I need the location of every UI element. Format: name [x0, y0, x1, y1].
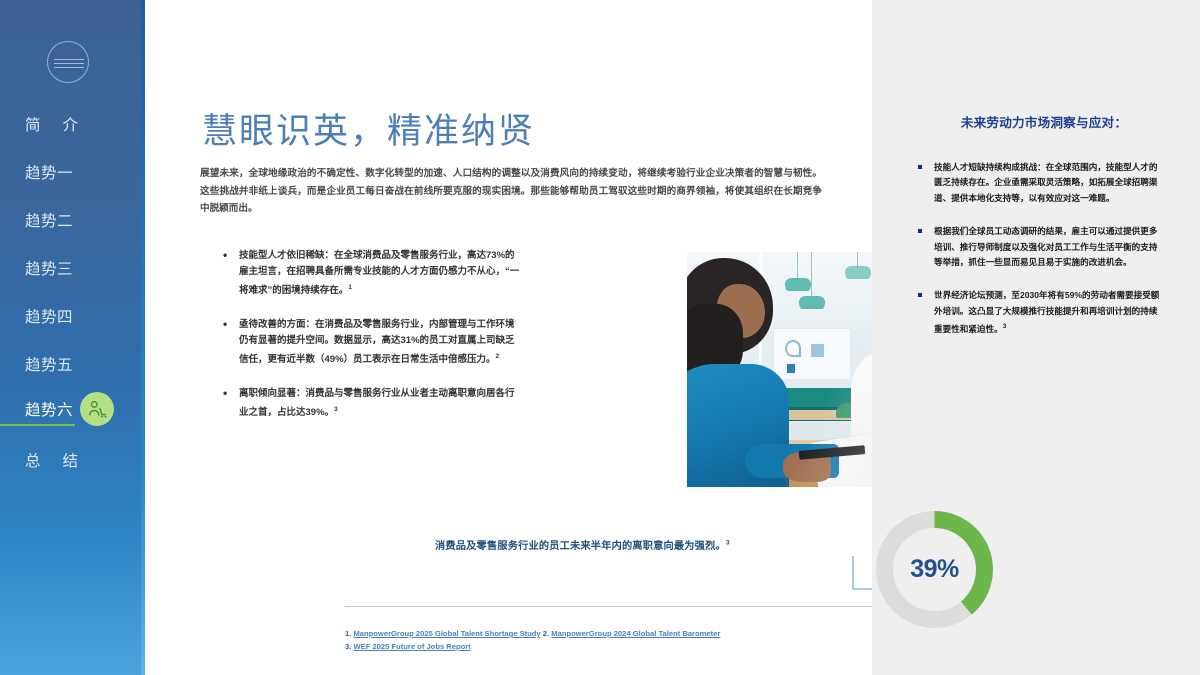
- donut-chart-center: 39%: [893, 528, 976, 611]
- main-bullet-list: 技能型人才依旧稀缺：在全球消费品及零售服务行业，高达73%的雇主坦言，在招聘具备…: [223, 248, 523, 438]
- bullet-body: 根据我们全球员工动态调研的结果，雇主可以通过提供更多培训、推行导师制度以及强化对…: [934, 226, 1157, 267]
- sidebar-item-label: 趋势六: [0, 398, 75, 426]
- insights-panel-title: 未来劳动力市场洞察与应对：: [910, 112, 1178, 131]
- list-item: 世界经济论坛预测，至2030年将有59%的劳动者需要接受额外培训。这凸显了大规模…: [916, 288, 1166, 337]
- bullet-heading: 技能型人才依旧稀缺：: [239, 250, 334, 261]
- bullet-heading: 亟待改善的方面：: [239, 319, 315, 330]
- footnote-ref: 3: [1003, 323, 1007, 330]
- sidebar-item-summary[interactable]: 总结: [0, 436, 141, 484]
- footnote-ref: 3: [334, 406, 338, 413]
- sidebar-item-trend-4[interactable]: 趋势四: [0, 292, 141, 340]
- sidebar-item-label: 趋势三: [0, 257, 141, 279]
- sidebar-item-label: 趋势二: [0, 209, 141, 231]
- page-title: 慧眼识英，精准纳贤: [202, 103, 535, 154]
- sidebar-item-trend-3[interactable]: 趋势三: [0, 244, 141, 292]
- slide-page: 简介 趋势一 趋势二 趋势三 趋势四 趋势五 趋势六 总结: [0, 0, 1200, 675]
- footnote-number: 2.: [543, 629, 549, 638]
- chart-caption: 消费品及零售服务行业的员工未来半年内的离职意向最为强烈。3: [435, 537, 855, 552]
- list-item: 亟待改善的方面：在消费品及零售服务行业，内部管理与工作环境仍有显著的提升空间。数…: [223, 317, 523, 369]
- circle-lines-logo-icon: [47, 41, 89, 83]
- bullet-heading: 离职倾向显著：: [239, 388, 306, 399]
- bullet-body: 世界经济论坛预测，至2030年将有59%的劳动者需要接受额外培训。这凸显了大规模…: [934, 290, 1159, 334]
- chart-caption-text: 消费品及零售服务行业的员工未来半年内的离职意向最为强烈。: [435, 541, 726, 552]
- footnote-number: 1.: [345, 629, 351, 638]
- footnote-number: 3.: [345, 642, 351, 651]
- footnote-ref: 1: [348, 284, 352, 291]
- footnote-link-2[interactable]: ManpowerGroup 2024 Global Talent Baromet…: [551, 629, 720, 638]
- main-content: 慧眼识英，精准纳贤 展望未来，全球地缘政治的不确定性、数字化转型的加速、人口结构…: [145, 0, 870, 675]
- sidebar-item-intro[interactable]: 简介: [0, 100, 141, 148]
- list-item: 技能型人才依旧稀缺：在全球消费品及零售服务行业，高达73%的雇主坦言，在招聘具备…: [223, 248, 523, 300]
- sidebar-nav: 简介 趋势一 趋势二 趋势三 趋势四 趋势五 趋势六 总结: [0, 0, 141, 675]
- sidebar-item-trend-6[interactable]: 趋势六: [0, 388, 141, 436]
- sidebar-item-trend-2[interactable]: 趋势二: [0, 196, 141, 244]
- sidebar-item-label: 趋势五: [0, 353, 141, 375]
- footnote-link-3[interactable]: WEF 2025 Future of Jobs Report: [353, 642, 470, 651]
- sidebar-item-label: 简介: [0, 113, 141, 135]
- sidebar-item-label: 趋势四: [0, 305, 141, 327]
- footnote-ref: 3: [726, 540, 730, 547]
- intro-paragraph: 展望未来，全球地缘政治的不确定性、数字化转型的加速、人口结构的调整以及消费风向的…: [200, 165, 822, 218]
- bullet-heading: 技能人才短缺持续构成挑战：: [934, 162, 1046, 172]
- list-item: 技能人才短缺持续构成挑战：在全球范围内，技能型人才的匮乏持续存在。企业亟需采取灵…: [916, 160, 1166, 206]
- sidebar-item-label: 趋势一: [0, 161, 141, 183]
- sidebar-item-label: 总结: [0, 449, 141, 471]
- list-item: 离职倾向显著：消费品与零售服务行业从业者主动离职意向居各行业之首，占比达39%。…: [223, 386, 523, 422]
- insights-bullet-list: 技能人才短缺持续构成挑战：在全球范围内，技能型人才的匮乏持续存在。企业亟需采取灵…: [916, 160, 1166, 356]
- list-item: 根据我们全球员工动态调研的结果，雇主可以通过提供更多培训、推行导师制度以及强化对…: [916, 224, 1166, 270]
- footnote-link-1[interactable]: ManpowerGroup 2025 Global Talent Shortag…: [353, 629, 540, 638]
- person-shopping-cart-icon: [80, 392, 114, 426]
- sidebar-item-trend-5[interactable]: 趋势五: [0, 340, 141, 388]
- footnote-ref: 2: [496, 353, 500, 360]
- donut-chart-value: 39%: [910, 555, 959, 584]
- sidebar-item-trend-1[interactable]: 趋势一: [0, 148, 141, 196]
